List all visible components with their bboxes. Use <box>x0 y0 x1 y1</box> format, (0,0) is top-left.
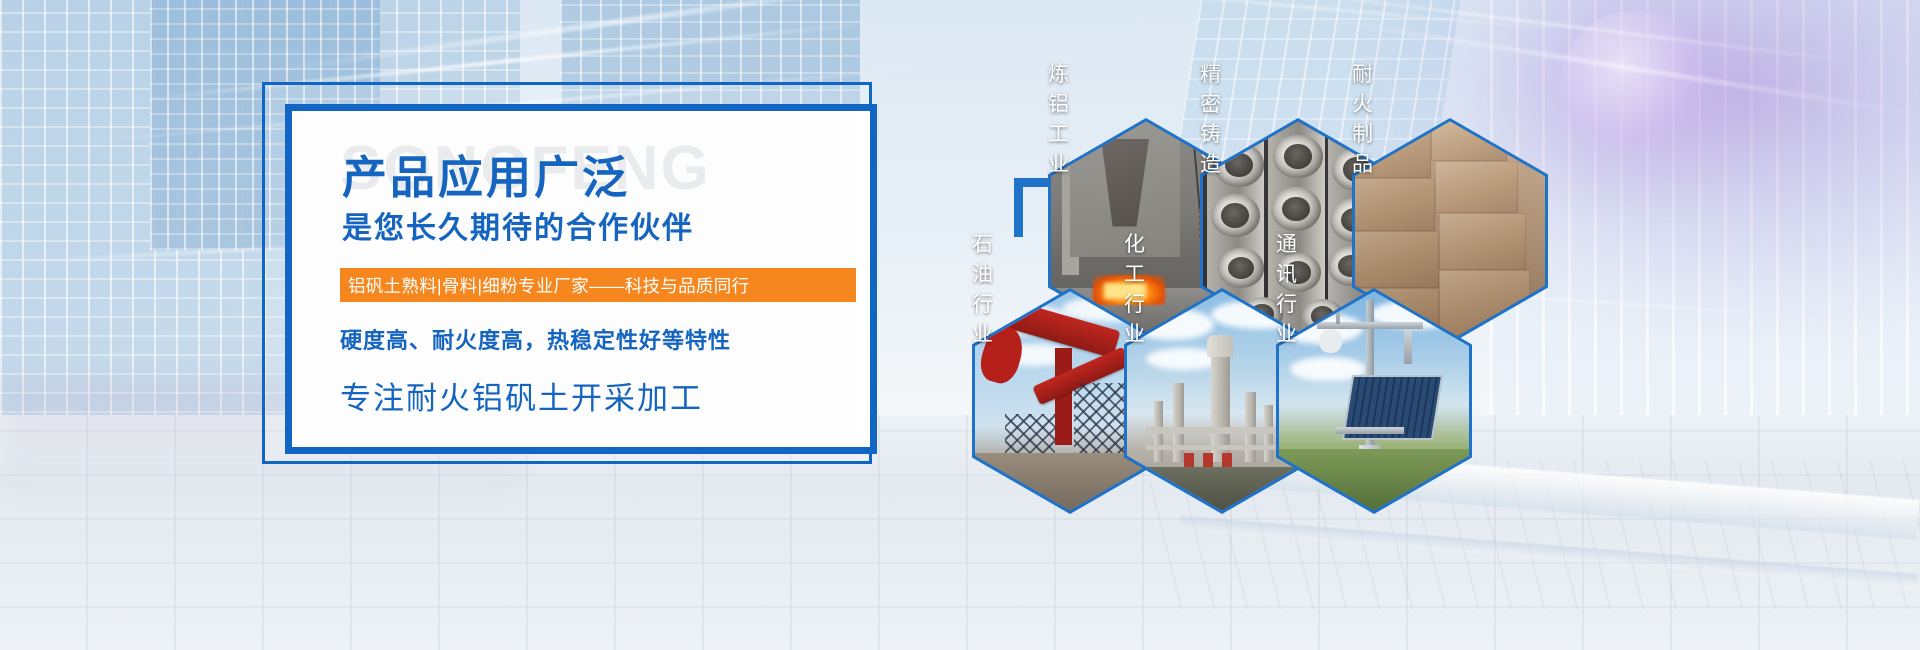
feature-description: 硬度高、耐火度高，热稳定性好等特性 <box>340 323 731 355</box>
promo-banner: 炼铝工业 精密铸造 <box>0 0 1920 650</box>
headline-secondary: 是您长久期待的合作伙伴 <box>342 203 694 247</box>
headline-primary: 产品应用广泛 <box>342 141 630 206</box>
text-card-content: SONGFENG 产品应用广泛 是您长久期待的合作伙伴 铝矾土熟料|骨料|细粉专… <box>292 111 856 433</box>
tagline-text: 铝矾土熟料|骨料|细粉专业厂家——科技与品质同行 <box>340 273 749 298</box>
business-focus-text: 专注耐火铝矾土开采加工 <box>340 373 703 418</box>
tagline-orange-bar: 铝矾土熟料|骨料|细粉专业厂家——科技与品质同行 <box>340 268 856 302</box>
